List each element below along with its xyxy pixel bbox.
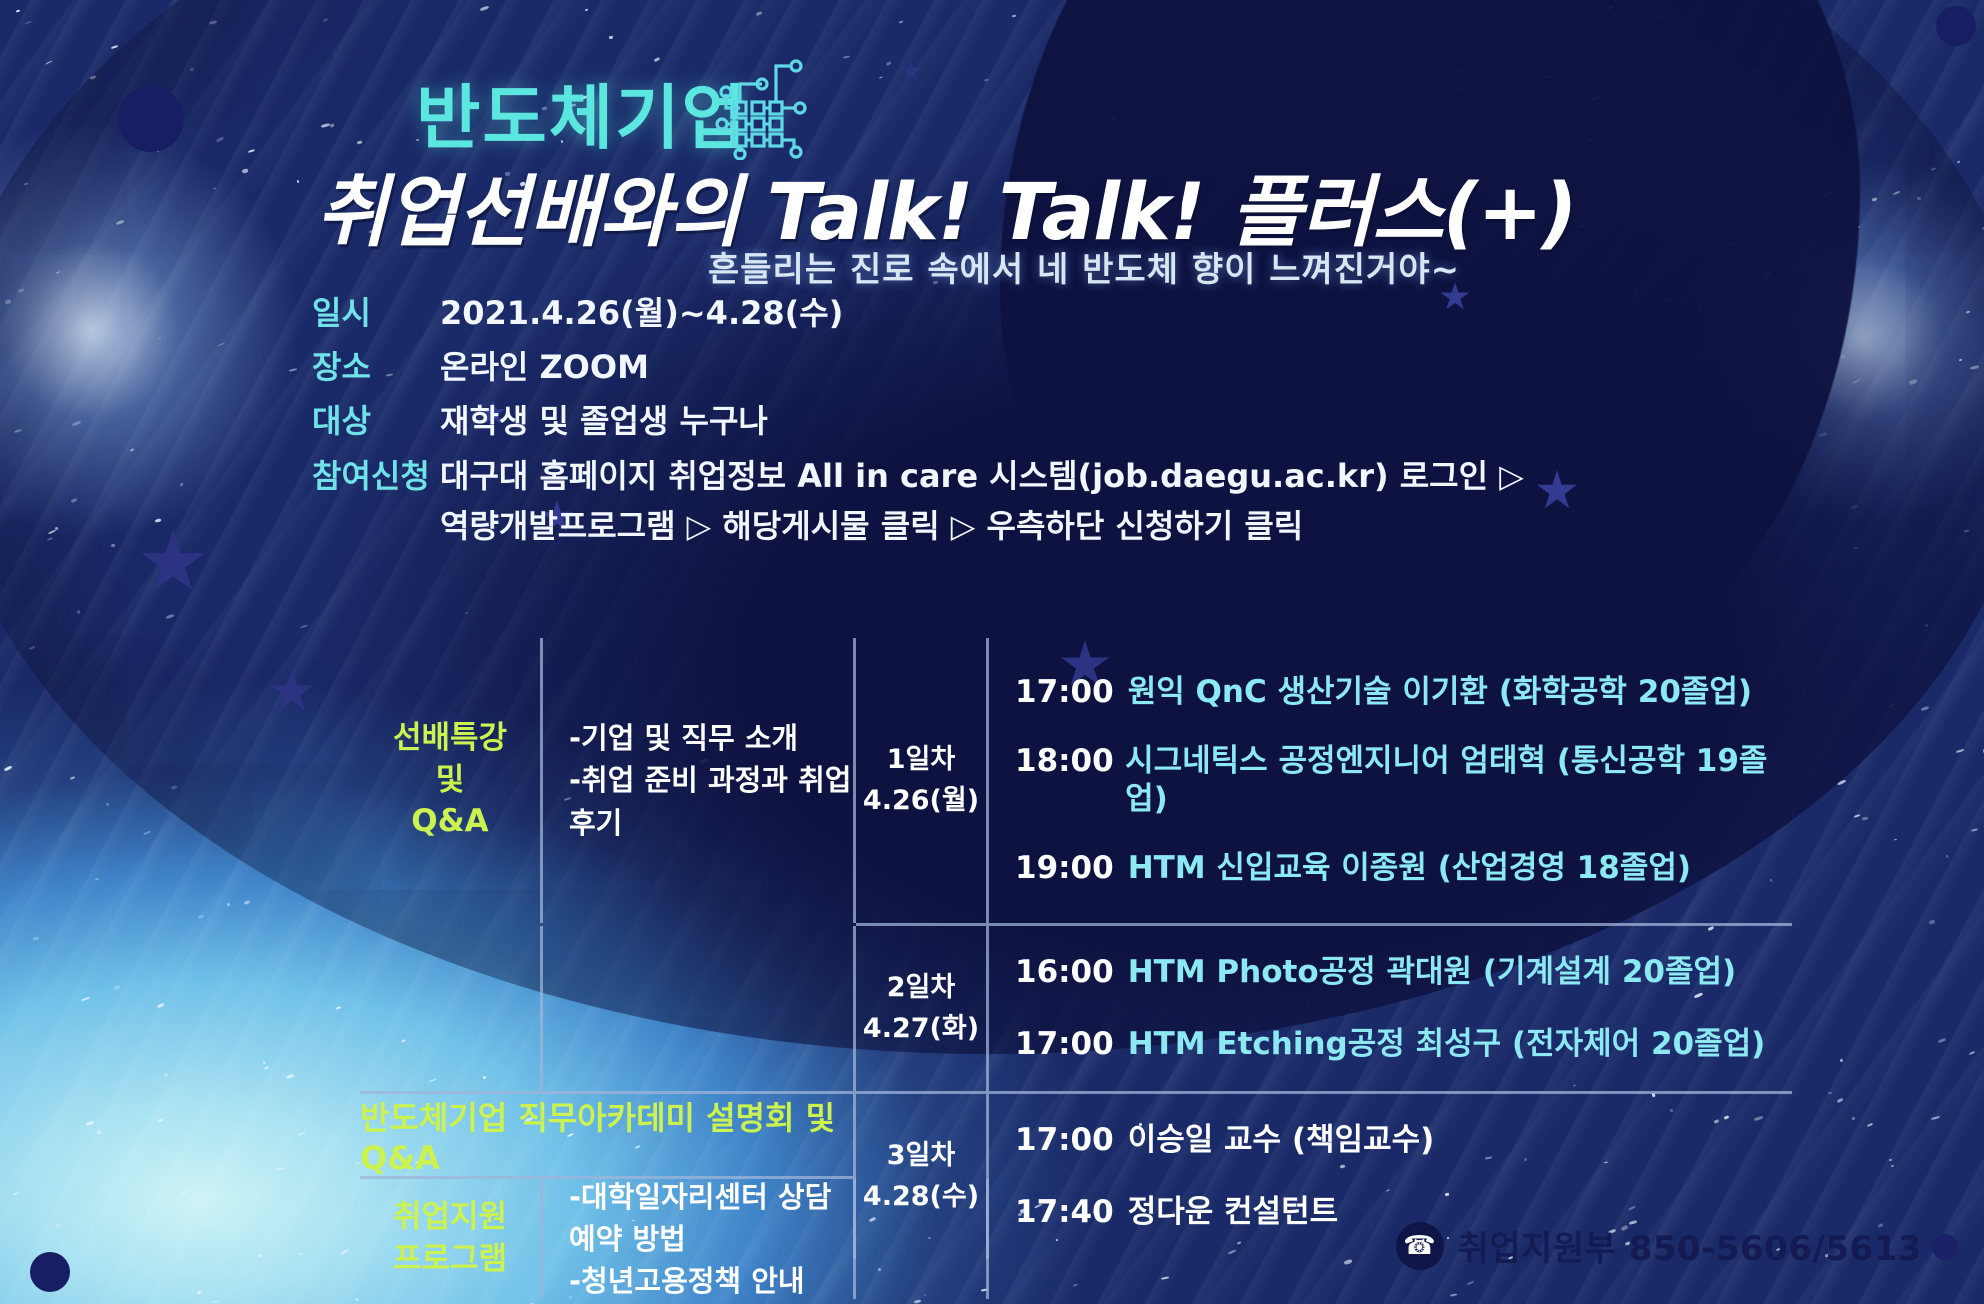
support-desc-line: -대학일자리센터 상담예약 방법 (569, 1176, 853, 1260)
day-number: 2일차 (863, 968, 979, 1009)
poster: 반도체기업 (0, 0, 1984, 1304)
day-number: 1일차 (863, 740, 979, 781)
schedule-item: 18:00 시그네틱스 공정엔지니어 엄태혁 (통신공학 19졸업) (1015, 743, 1792, 817)
info-apply-continuation: 역량개발프로그램 ▷ 해당게시물 클릭 ▷ 우측하단 신청하기 클릭 (312, 505, 1712, 548)
divider (360, 1176, 853, 1179)
item-text: HTM 신입교육 이종원 (산업경영 18졸업) (1128, 850, 1691, 887)
schedule-item: 17:00 원익 QnC 생산기술 이기환 (화학공학 20졸업) (1015, 674, 1792, 711)
info-row-apply: 참여신청 대구대 홈페이지 취업정보 All in care 시스템(job.d… (312, 455, 1712, 498)
info-label: 대상 (312, 400, 440, 443)
schedule-items: 16:00 HTM Photo공정 곽대원 (기계설계 20졸업) 17:00 … (989, 926, 1792, 1091)
schedule-day-label: 2일차 4.27(화) (856, 926, 986, 1091)
item-text: 시그네틱스 공정엔지니어 엄태혁 (통신공학 19졸업) (1125, 743, 1792, 817)
schedule-item: 17:00 이승일 교수 (책임교수) (1015, 1122, 1792, 1159)
schedule-day-label: 1일차 4.26(월) (856, 638, 986, 923)
spacer-cell (360, 926, 540, 1091)
day-date: 4.27(화) (863, 1009, 979, 1050)
schedule-section-desc: -기업 및 직무 소개 -취업 준비 과정과 취업 후기 (543, 638, 853, 923)
item-text: 이승일 교수 (책임교수) (1128, 1122, 1435, 1159)
section-desc-line: -취업 준비 과정과 취업 후기 (569, 759, 853, 843)
section-title-line: Q&A (393, 801, 507, 843)
section-desc-line: -기업 및 직무 소개 (569, 717, 853, 759)
spacer-cell (543, 926, 853, 1091)
info-value: 대구대 홈페이지 취업정보 All in care 시스템(job.daegu.… (440, 455, 1524, 498)
divider (986, 926, 989, 1091)
support-desc: -대학일자리센터 상담예약 방법 -청년고용정책 안내 (543, 1179, 853, 1299)
divider (986, 638, 989, 923)
info-row-audience: 대상 재학생 및 졸업생 누구나 (312, 400, 1712, 443)
info-row-date: 일시 2021.4.26(월)~4.28(수) (312, 292, 1712, 335)
schedule-items: 17:00 원익 QnC 생산기술 이기환 (화학공학 20졸업) 18:00 … (989, 638, 1792, 923)
day-number: 3일차 (863, 1136, 979, 1177)
table-row: 2일차 4.27(화) 16:00 HTM Photo공정 곽대원 (기계설계 … (360, 926, 1792, 1091)
support-title: 취업지원 프로그램 (360, 1179, 540, 1299)
subtitle: 흔들리는 진로 속에서 네 반도체 향이 느껴진거야~ (708, 242, 1460, 291)
schedule-item: 19:00 HTM 신입교육 이종원 (산업경영 18졸업) (1015, 850, 1792, 887)
schedule-item: 17:00 HTM Etching공정 최성구 (전자제어 20졸업) (1015, 1026, 1792, 1063)
decor-dot (1932, 1234, 1958, 1260)
decor-dot (1936, 6, 1976, 46)
decor-dot (118, 86, 184, 152)
item-text: 원익 QnC 생산기술 이기환 (화학공학 20졸업) (1128, 674, 1752, 711)
item-time: 17:00 (1015, 674, 1114, 711)
divider (856, 923, 1792, 926)
decor-dot (30, 1252, 70, 1292)
support-title-line: 취업지원 (393, 1197, 507, 1239)
divider (360, 1091, 1792, 1094)
day-date: 4.26(월) (863, 781, 979, 822)
section-title-line: 선배특강 (393, 718, 507, 760)
info-row-place: 장소 온라인 ZOOM (312, 346, 1712, 389)
circuit-chip-icon (700, 48, 812, 160)
divider (540, 638, 543, 923)
contact-info: ☎ 취업지원부 850-5606/5613 (1396, 1221, 1923, 1270)
info-label: 일시 (312, 292, 440, 335)
schedule-table: 선배특강 및 Q&A -기업 및 직무 소개 -취업 준비 과정과 취업 후기 … (360, 638, 1792, 1299)
item-time: 17:00 (1015, 1122, 1114, 1159)
divider (540, 926, 543, 1091)
schedule-item: 16:00 HTM Photo공정 곽대원 (기계설계 20졸업) (1015, 954, 1792, 991)
phone-icon: ☎ (1396, 1222, 1444, 1270)
kicker-text: 반도체기업 (416, 62, 748, 163)
support-title-line: 프로그램 (393, 1239, 507, 1281)
item-time: 17:00 (1015, 1026, 1114, 1063)
item-text: HTM Etching공정 최성구 (전자제어 20졸업) (1128, 1026, 1766, 1063)
item-time: 18:00 (1015, 743, 1111, 780)
divider (853, 638, 856, 923)
table-row: 선배특강 및 Q&A -기업 및 직무 소개 -취업 준비 과정과 취업 후기 … (360, 638, 1792, 923)
contact-text: 취업지원부 850-5606/5613 (1458, 1221, 1923, 1270)
info-label: 장소 (312, 346, 440, 389)
academy-row-title: 반도체기업 직무아카데미 설명회 및 Q&A (360, 1094, 853, 1176)
section-title-line: 및 (393, 760, 507, 802)
divider (986, 1179, 989, 1299)
divider (853, 926, 856, 1091)
divider (853, 1179, 856, 1299)
divider (540, 1179, 543, 1299)
item-time: 19:00 (1015, 850, 1114, 887)
item-text: HTM Photo공정 곽대원 (기계설계 20졸업) (1128, 954, 1737, 991)
info-value: 재학생 및 졸업생 누구나 (440, 400, 768, 443)
info-label: 참여신청 (312, 455, 440, 498)
support-desc-line: -청년고용정책 안내 (569, 1260, 853, 1302)
schedule-section-title: 선배특강 및 Q&A (360, 638, 540, 923)
info-value: 2021.4.26(월)~4.28(수) (440, 292, 843, 335)
item-time: 16:00 (1015, 954, 1114, 991)
info-value: 온라인 ZOOM (440, 346, 649, 389)
info-block: 일시 2021.4.26(월)~4.28(수) 장소 온라인 ZOOM 대상 재… (312, 292, 1712, 548)
